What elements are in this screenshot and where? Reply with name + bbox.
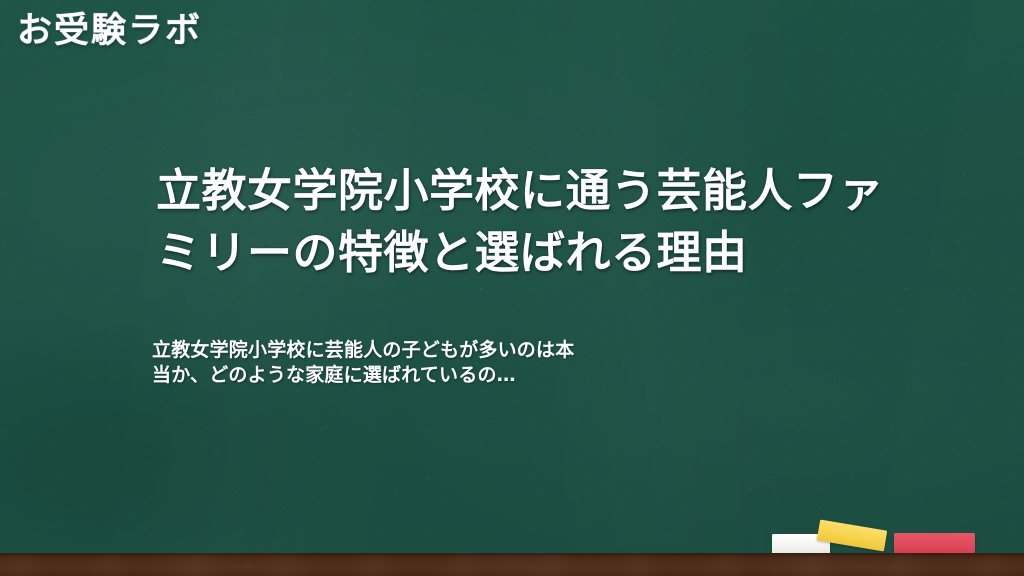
chalk-ledge (0, 553, 1024, 576)
page-title-line-1: 立教女学院小学校に通う芸能人ファ (156, 160, 916, 222)
site-logo: お受験ラボ (17, 8, 202, 54)
wood-grain-texture (0, 553, 1024, 576)
page-subtitle-line-2: 当か、どのような家庭に選ばれているの… (152, 363, 772, 388)
page-subtitle-line-1: 立教女学院小学校に芸能人の子どもが多いのは本 (152, 338, 772, 363)
red-chalk-stick (894, 533, 975, 553)
page-subtitle: 立教女学院小学校に芸能人の子どもが多いのは本 当か、どのような家庭に選ばれている… (152, 338, 772, 388)
thumbnail-canvas: お受験ラボ 立教女学院小学校に通う芸能人ファ ミリーの特徴と選ばれる理由 立教女… (0, 0, 1024, 576)
page-title-line-2: ミリーの特徴と選ばれる理由 (156, 222, 916, 284)
page-title: 立教女学院小学校に通う芸能人ファ ミリーの特徴と選ばれる理由 (156, 160, 916, 284)
